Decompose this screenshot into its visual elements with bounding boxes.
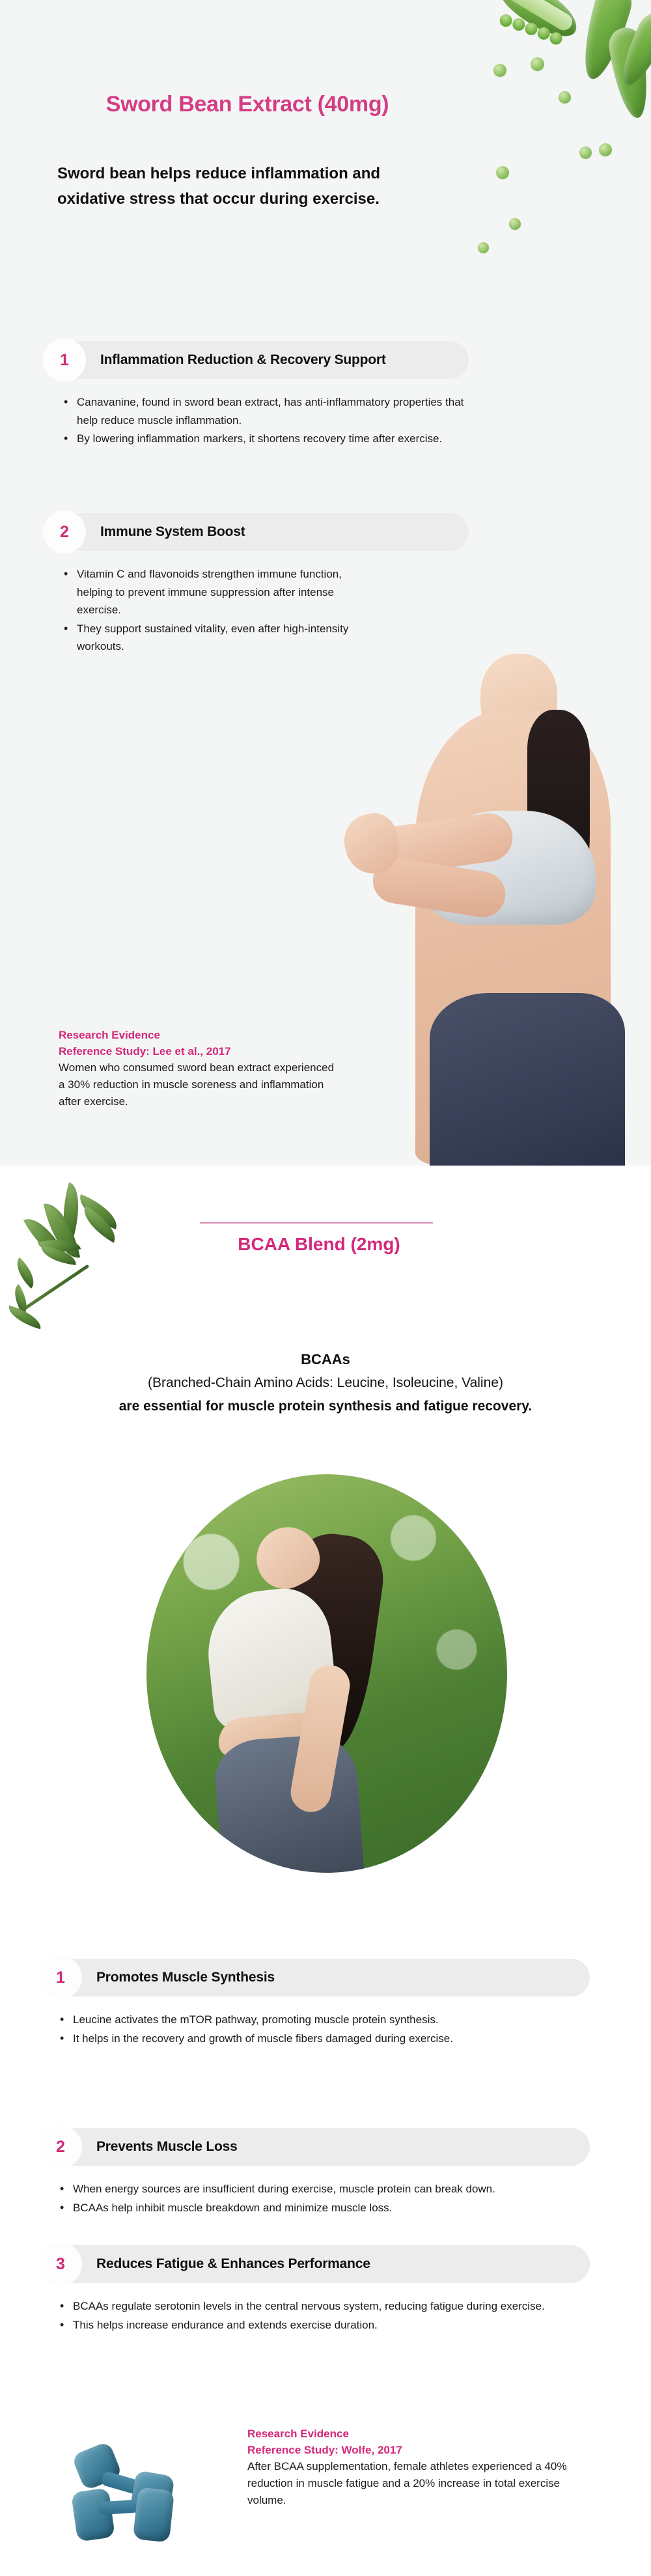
leaf-icon <box>23 1211 65 1264</box>
leaf-icon <box>76 1205 122 1242</box>
torso <box>415 710 611 1166</box>
list-item: Vitamin C and flavonoids strengthen immu… <box>60 565 366 619</box>
section-header-pill: 1 Promotes Muscle Synthesis <box>42 1959 590 1996</box>
evidence-label: Research Evidence <box>247 2426 586 2443</box>
hand <box>339 808 405 879</box>
bcaa-lead-block: BCAAs (Branched-Chain Amino Acids: Leuci… <box>0 1349 651 1418</box>
pea-icon <box>531 57 544 71</box>
bcaa-section-1: 1 Promotes Muscle Synthesis Leucine acti… <box>42 1959 590 2048</box>
pea-icon <box>559 91 571 104</box>
outdoor-stretching-photo <box>146 1474 507 1873</box>
list-item: Leucine activates the mTOR pathway, prom… <box>56 2011 590 2029</box>
bcaa-lead-line-2: (Branched-Chain Amino Acids: Leucine, Is… <box>0 1372 651 1394</box>
pea-pod-decoration <box>436 0 651 273</box>
arm <box>370 854 508 920</box>
section-bullet-list: Vitamin C and flavonoids strengthen immu… <box>60 565 366 656</box>
sword-bean-section: Sword Bean Extract (40mg) Sword bean hel… <box>0 0 651 1166</box>
hair-strand <box>527 710 590 925</box>
bcaa-title-rule <box>200 1222 433 1224</box>
sword-section-2: 2 Immune System Boost Vitamin C and flav… <box>46 513 469 656</box>
section-bullet-list: Canavanine, found in sword bean extract,… <box>60 393 469 448</box>
arm <box>361 810 516 878</box>
hair <box>466 639 575 854</box>
pea-icon <box>599 143 612 156</box>
pea-pod-open-icon <box>493 0 585 46</box>
sword-bean-lead: Sword bean helps reduce inflammation and… <box>57 161 448 212</box>
bcaa-research-evidence: Research Evidence Reference Study: Wolfe… <box>247 2426 586 2509</box>
leaf-icon <box>8 1284 34 1315</box>
section-header-pill: 3 Reduces Fatigue & Enhances Performance <box>42 2245 590 2283</box>
leaf-icon <box>10 1257 41 1289</box>
evidence-body: After BCAA supplementation, female athle… <box>247 2458 586 2508</box>
section-bullet-list: When energy sources are insufficient dur… <box>56 2180 590 2217</box>
leggings <box>213 1733 365 1873</box>
list-item: It helps in the recovery and growth of m… <box>56 2030 590 2048</box>
step-number-badge: 2 <box>39 2125 82 2168</box>
evidence-body: Women who consumed sword bean extract ex… <box>59 1059 339 1110</box>
leaf-icon <box>38 1233 81 1259</box>
sword-bean-title: Sword Bean Extract (40mg) <box>0 92 495 117</box>
pea-icon <box>509 218 521 230</box>
section-heading: Promotes Muscle Synthesis <box>96 1970 275 1985</box>
evidence-label: Research Evidence <box>59 1028 339 1044</box>
list-item: They support sustained vitality, even af… <box>60 620 366 656</box>
section-header-pill: 2 Prevents Muscle Loss <box>42 2128 590 2166</box>
evidence-reference: Reference Study: Lee et al., 2017 <box>59 1044 339 1060</box>
list-item: By lowering inflammation markers, it sho… <box>60 430 469 448</box>
section-heading: Reduces Fatigue & Enhances Performance <box>96 2256 370 2272</box>
sports-top <box>423 811 596 925</box>
pea-pod-icon <box>574 0 637 84</box>
leaf-icon <box>40 1246 77 1265</box>
bcaa-lead-line-1: BCAAs <box>0 1349 651 1370</box>
section-bullet-list: BCAAs regulate serotonin levels in the c… <box>56 2297 590 2334</box>
list-item: This helps increase endurance and extend… <box>56 2316 590 2334</box>
leaf-icon <box>54 1182 88 1240</box>
bcaa-section-2: 2 Prevents Muscle Loss When energy sourc… <box>42 2128 590 2217</box>
pea-icon <box>579 147 592 159</box>
evidence-reference: Reference Study: Wolfe, 2017 <box>247 2443 586 2459</box>
section-bullet-list: Leucine activates the mTOR pathway, prom… <box>56 2011 590 2047</box>
pea-icon <box>478 242 489 253</box>
bcaa-lead-line-3: are essential for muscle protein synthes… <box>0 1395 651 1418</box>
step-number-badge: 1 <box>39 1956 82 1999</box>
section-heading: Inflammation Reduction & Recovery Suppor… <box>100 352 386 368</box>
dumbbell-weight <box>71 2487 115 2541</box>
dumbbell-weight <box>133 2487 174 2542</box>
step-number-badge: 2 <box>43 511 86 553</box>
section-header-pill: 2 Immune System Boost <box>46 513 469 551</box>
list-item: BCAAs regulate serotonin levels in the c… <box>56 2297 590 2316</box>
leaf-icon <box>5 1306 44 1330</box>
dumbbell-icon <box>70 2435 207 2559</box>
head <box>480 654 557 750</box>
list-item: BCAAs help inhibit muscle breakdown and … <box>56 2199 590 2217</box>
list-item: When energy sources are insufficient dur… <box>56 2180 590 2198</box>
leaf-branch-decoration <box>7 1175 156 1337</box>
section-heading: Immune System Boost <box>100 524 245 540</box>
pea-icon <box>493 64 506 77</box>
list-item: Canavanine, found in sword bean extract,… <box>60 393 469 429</box>
leggings <box>430 993 625 1166</box>
sword-section-1: 1 Inflammation Reduction & Recovery Supp… <box>46 341 469 449</box>
infographic-page: Sword Bean Extract (40mg) Sword bean hel… <box>0 0 651 2576</box>
leaf-icon <box>74 1194 123 1229</box>
section-header-pill: 1 Inflammation Reduction & Recovery Supp… <box>46 341 469 379</box>
sword-research-evidence: Research Evidence Reference Study: Lee e… <box>59 1028 339 1110</box>
bcaa-title: BCAA Blend (2mg) <box>156 1234 482 1255</box>
step-number-badge: 3 <box>39 2243 82 2286</box>
step-number-badge: 1 <box>43 339 86 382</box>
bcaa-section-3: 3 Reduces Fatigue & Enhances Performance… <box>42 2245 590 2334</box>
pea-pod-icon <box>606 25 651 120</box>
stem <box>24 1264 90 1309</box>
pea-icon <box>496 166 509 179</box>
section-heading: Prevents Muscle Loss <box>96 2139 238 2155</box>
pea-pod-icon <box>613 8 651 91</box>
leaf-icon <box>44 1199 80 1263</box>
